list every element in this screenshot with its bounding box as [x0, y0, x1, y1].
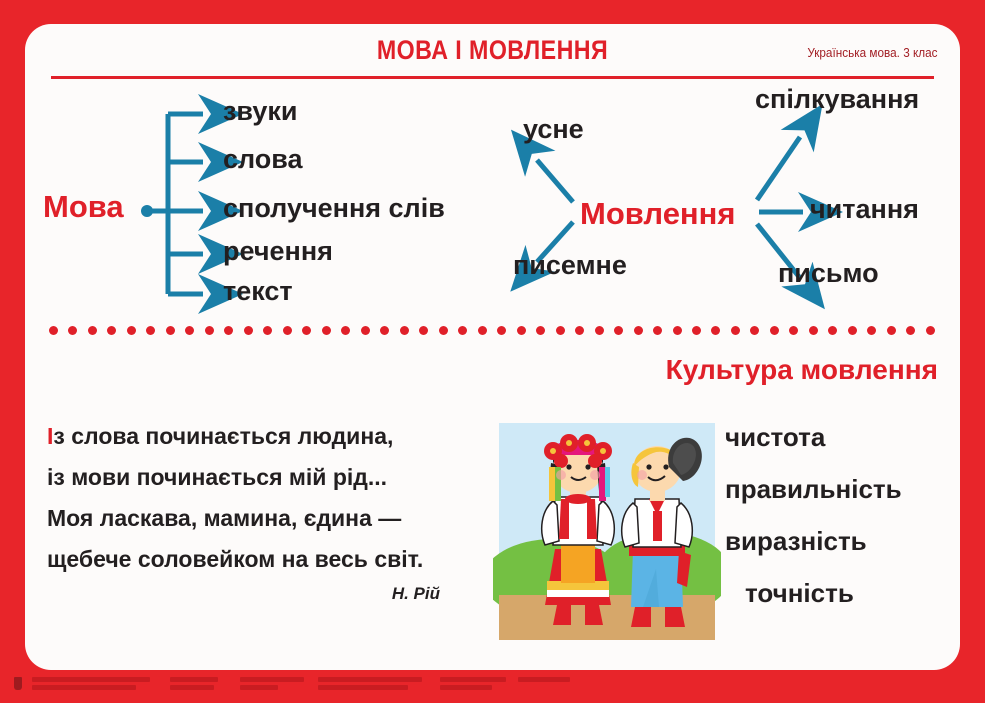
mova-branch-rechennya: речення [223, 236, 333, 267]
divider-dot [517, 326, 526, 335]
movlennya-label-usne: усне [523, 114, 584, 145]
poem-block: Із слова починається людина, із мови поч… [47, 416, 502, 604]
mova-branch-slova: слова [223, 144, 303, 175]
page-title: МОВА І МОВЛЕННЯ [90, 35, 894, 66]
children-illustration [493, 419, 721, 644]
poem-line-1: Із слова починається людина, [47, 416, 502, 457]
footer-text-block [440, 677, 506, 682]
divider-dot [88, 326, 97, 335]
divider-dot [497, 326, 506, 335]
movlennya-label-pysmo: письмо [778, 258, 879, 289]
divider-dot [322, 326, 331, 335]
movlennya-label-chytannya: читання [810, 194, 919, 225]
divider-dot [224, 326, 233, 335]
subject-label: Українська мова. 3 клас [808, 46, 938, 60]
divider-dot [809, 326, 818, 335]
divider-dot [848, 326, 857, 335]
divider-dot [283, 326, 292, 335]
divider-dot [711, 326, 720, 335]
divider-dot [536, 326, 545, 335]
divider-dot [750, 326, 759, 335]
divider-dot [439, 326, 448, 335]
divider-dot [361, 326, 370, 335]
mova-diagram: Мова звуки слова сполучення слів речення… [25, 82, 495, 322]
mova-branch-zvuky: звуки [223, 96, 297, 127]
footer-text-block [318, 685, 408, 690]
footer-text-block [240, 685, 278, 690]
divider-dot [556, 326, 565, 335]
dotted-divider [49, 322, 935, 338]
footer-text-block [518, 677, 570, 682]
divider-dot [107, 326, 116, 335]
mova-root-node: Мова [43, 189, 124, 225]
poem-line-2: із мови починається мій рід... [47, 457, 502, 498]
divider-dot [731, 326, 740, 335]
divider-dot [770, 326, 779, 335]
divider-dot [302, 326, 311, 335]
diagram-area: Мова звуки слова сполучення слів речення… [25, 82, 960, 322]
poem-line-3: Моя ласкава, мамина, єдина — [47, 498, 502, 539]
footer-page-marker [14, 677, 22, 690]
footer-text-block [440, 685, 492, 690]
mova-branch-spoluchennya: сполучення слів [223, 193, 445, 224]
culture-item-chystota: чистота [725, 422, 960, 453]
divider-dot [595, 326, 604, 335]
title-underline [51, 76, 934, 79]
footer-text-block [32, 685, 136, 690]
divider-dot [244, 326, 253, 335]
culture-list: чистота правильність виразність точність [725, 422, 960, 630]
footer-text-block [170, 685, 214, 690]
culture-item-tochnist: точність [725, 578, 960, 609]
culture-item-pravylnist: правильність [725, 474, 960, 505]
footer-text-block [240, 677, 304, 682]
poem-line-4: щебече соловейком на весь світ. [47, 539, 502, 580]
footer-text-block [32, 677, 150, 682]
divider-dot [692, 326, 701, 335]
movlennya-root-node: Мовлення [580, 196, 735, 232]
divider-dot [341, 326, 350, 335]
movlennya-diagram: Мовлення усне писемне спілкування читанн… [495, 82, 960, 322]
poster: МОВА І МОВЛЕННЯ Українська мова. 3 клас [0, 0, 985, 703]
divider-dot [926, 326, 935, 335]
poem-author: Н. Рій [47, 584, 502, 604]
divider-dot [575, 326, 584, 335]
children-illustration-svg [493, 419, 721, 644]
divider-dot [419, 326, 428, 335]
divider-dot [673, 326, 682, 335]
header: МОВА І МОВЛЕННЯ Українська мова. 3 клас [25, 24, 960, 82]
divider-dot [478, 326, 487, 335]
movlennya-label-pysemne: писемне [513, 250, 627, 281]
footer-text-block [318, 677, 422, 682]
divider-dot [867, 326, 876, 335]
content-card: МОВА І МОВЛЕННЯ Українська мова. 3 клас [25, 24, 960, 670]
divider-dot [146, 326, 155, 335]
footer-text-block [170, 677, 218, 682]
divider-dot [205, 326, 214, 335]
divider-dot [653, 326, 662, 335]
divider-dot [828, 326, 837, 335]
mova-branch-tekst: текст [223, 276, 293, 307]
divider-dot [68, 326, 77, 335]
culture-item-vyraznist: виразність [725, 526, 960, 557]
divider-dot [49, 326, 58, 335]
divider-dot [263, 326, 272, 335]
divider-dot [614, 326, 623, 335]
divider-dot [634, 326, 643, 335]
culture-heading: Культура мовлення [666, 354, 938, 386]
divider-dot [400, 326, 409, 335]
movlennya-label-spilkuvannya: спілкування [755, 84, 919, 115]
footer [0, 670, 985, 703]
divider-dot [185, 326, 194, 335]
divider-dot [166, 326, 175, 335]
poem-line-1-rest: з слова починається людина, [53, 423, 393, 449]
divider-dot [887, 326, 896, 335]
divider-dot [458, 326, 467, 335]
divider-dot [380, 326, 389, 335]
divider-dot [789, 326, 798, 335]
divider-dot [906, 326, 915, 335]
divider-dot [127, 326, 136, 335]
